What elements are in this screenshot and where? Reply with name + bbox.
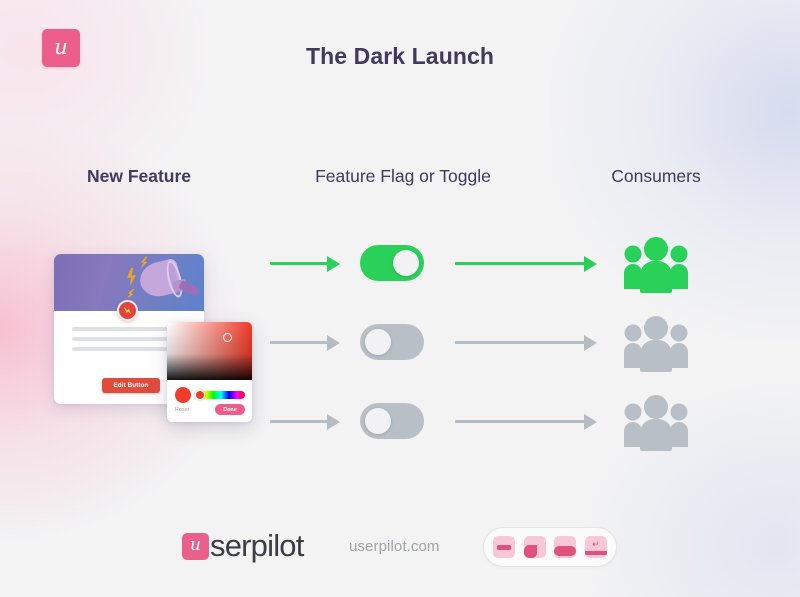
infographic-canvas: u The Dark Launch New Feature Feature Fl… <box>0 0 800 597</box>
arrow-feature-to-toggle-icon <box>270 420 340 423</box>
arrow-shaft <box>455 420 585 423</box>
feature-flag-toggle-on[interactable] <box>360 245 424 281</box>
column-header-consumers: Consumers <box>528 166 784 187</box>
column-header-feature-flag: Feature Flag or Toggle <box>278 166 528 187</box>
arrow-head <box>584 256 597 272</box>
flow-row-disabled-2 <box>0 390 800 454</box>
userpilot-wordmark-text: serpilot <box>210 530 304 561</box>
arrow-shaft <box>455 262 585 265</box>
arrow-shaft <box>270 341 328 344</box>
tooltip-icon: ↵ <box>585 536 607 558</box>
toggle-knob <box>393 250 419 276</box>
arrow-head <box>327 335 340 351</box>
product-icon-strip: ↵ <box>483 527 617 567</box>
arrow-head <box>327 414 340 430</box>
arrow-head <box>327 256 340 272</box>
banner-icon <box>554 536 576 558</box>
consumers-group-icon-inactive <box>620 395 692 451</box>
flow-row-enabled <box>0 232 800 296</box>
arrow-feature-to-toggle-icon <box>270 262 340 265</box>
arrow-shaft <box>270 262 328 265</box>
modal-icon <box>493 536 515 558</box>
flow-row-disabled-1 <box>0 311 800 375</box>
column-header-new-feature: New Feature <box>0 166 278 187</box>
toggle-knob <box>365 329 391 355</box>
page-title: The Dark Launch <box>0 43 800 70</box>
site-url-text: userpilot.com <box>349 538 440 555</box>
arrow-toggle-to-consumers-icon <box>455 420 597 423</box>
arrow-head <box>584 414 597 430</box>
slideout-icon <box>524 536 546 558</box>
userpilot-wordmark-badge: u <box>182 533 209 560</box>
arrow-shaft <box>455 341 585 344</box>
arrow-toggle-to-consumers-icon <box>455 341 597 344</box>
userpilot-wordmark-glyph: u <box>190 537 201 554</box>
arrow-toggle-to-consumers-icon <box>455 262 597 265</box>
arrow-head <box>584 335 597 351</box>
consumers-group-icon-active <box>620 237 692 293</box>
toggle-knob <box>365 408 391 434</box>
userpilot-wordmark: u serpilot <box>182 527 304 565</box>
arrow-shaft <box>270 420 328 423</box>
feature-flag-toggle-off[interactable] <box>360 324 424 360</box>
feature-flag-toggle-off[interactable] <box>360 403 424 439</box>
tooltip-cursor-mark: ↵ <box>592 540 600 549</box>
consumers-group-icon-inactive <box>620 316 692 372</box>
background-wash-pink-top <box>0 0 220 220</box>
footer: u serpilot userpilot.com ↵ <box>0 518 800 580</box>
arrow-feature-to-toggle-icon <box>270 341 340 344</box>
